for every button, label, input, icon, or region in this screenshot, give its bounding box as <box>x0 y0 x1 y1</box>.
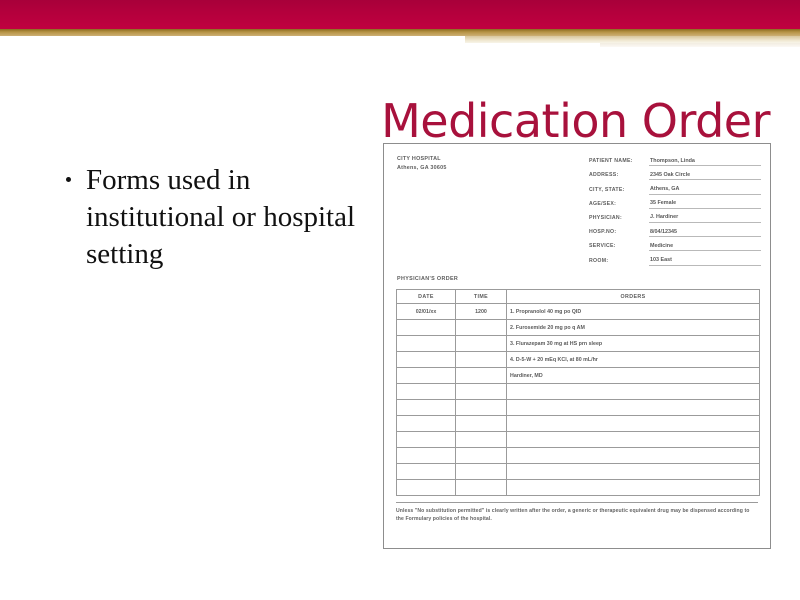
patient-field-row: ROOM: 103 East <box>589 251 761 265</box>
form-header: CITY HOSPITAL Athens, GA 30605 PATIENT N… <box>384 144 770 274</box>
cell-time[interactable] <box>456 352 507 368</box>
cell-time[interactable] <box>456 416 507 432</box>
cell-time[interactable] <box>456 320 507 336</box>
hospital-name: CITY HOSPITAL <box>397 155 447 164</box>
cell-order[interactable] <box>507 464 760 480</box>
orders-table: DATE TIME ORDERS 02/01/xx 1200 1. Propra… <box>396 289 760 496</box>
cell-order[interactable] <box>507 480 760 496</box>
cell-time[interactable]: 1200 <box>456 304 507 320</box>
patient-field-row: HOSP.NO: 8/04/12345 <box>589 223 761 237</box>
list-item-label: Forms used in institutional or hospital … <box>86 164 355 270</box>
top-crimson-band <box>0 0 800 29</box>
cell-time[interactable] <box>456 336 507 352</box>
table-row: 02/01/xx 1200 1. Propranolol 40 mg po QI… <box>397 304 760 320</box>
cell-order[interactable] <box>507 448 760 464</box>
physicians-order-label: PHYSICIAN'S ORDER <box>397 276 458 282</box>
patient-field-row: SERVICE: Medicine <box>589 237 761 251</box>
patient-field-value[interactable]: Thompson, Linda <box>649 158 761 167</box>
cell-time[interactable] <box>456 368 507 384</box>
cell-time[interactable] <box>456 464 507 480</box>
table-row <box>397 432 760 448</box>
patient-field-row: ADDRESS: 2345 Oak Circle <box>589 166 761 180</box>
table-header-row: DATE TIME ORDERS <box>397 290 760 304</box>
hospital-city-state-zip: Athens, GA 30605 <box>397 164 447 173</box>
patient-field-label: CITY, STATE: <box>589 187 649 195</box>
column-header-time: TIME <box>456 290 507 304</box>
top-gold-rule-tertiary <box>600 43 800 47</box>
cell-order[interactable]: 3. Flurazepam 30 mg at HS prn sleep <box>507 336 760 352</box>
patient-field-row: AGE/SEX: 35 Female <box>589 195 761 209</box>
cell-order[interactable]: 2. Furosemide 20 mg po q AM <box>507 320 760 336</box>
hospital-block: CITY HOSPITAL Athens, GA 30605 <box>397 155 447 174</box>
list-item: Forms used in institutional or hospital … <box>60 162 360 273</box>
patient-field-row: PATIENT NAME: Thompson, Linda <box>589 152 761 166</box>
patient-field-value[interactable]: 8/04/12345 <box>649 229 761 238</box>
patient-field-value[interactable]: 35 Female <box>649 200 761 209</box>
table-row: Hardiner, MD <box>397 368 760 384</box>
cell-date[interactable] <box>397 320 456 336</box>
patient-field-value[interactable]: J. Hardiner <box>649 214 761 223</box>
table-row: 4. D-5-W + 20 mEq KCl, at 80 mL/hr <box>397 352 760 368</box>
cell-order[interactable] <box>507 384 760 400</box>
cell-date[interactable] <box>397 352 456 368</box>
patient-field-value[interactable]: Athens, GA <box>649 186 761 195</box>
patient-field-label: SERVICE: <box>589 243 649 251</box>
table-row <box>397 448 760 464</box>
cell-time[interactable] <box>456 400 507 416</box>
patient-field-value[interactable]: Medicine <box>649 243 761 252</box>
slide-canvas: Medication Order Forms used in instituti… <box>0 0 800 600</box>
form-footnote: Unless "No substitution permitted" is cl… <box>396 502 758 524</box>
patient-field-label: HOSP.NO: <box>589 229 649 237</box>
patient-field-row: PHYSICIAN: J. Hardiner <box>589 209 761 223</box>
patient-field-label: PHYSICIAN: <box>589 215 649 223</box>
cell-order[interactable]: 4. D-5-W + 20 mEq KCl, at 80 mL/hr <box>507 352 760 368</box>
cell-time[interactable] <box>456 432 507 448</box>
cell-time[interactable] <box>456 448 507 464</box>
medication-order-form: CITY HOSPITAL Athens, GA 30605 PATIENT N… <box>383 143 771 549</box>
cell-time[interactable] <box>456 480 507 496</box>
cell-date[interactable] <box>397 432 456 448</box>
cell-date[interactable] <box>397 480 456 496</box>
table-row <box>397 400 760 416</box>
cell-date[interactable] <box>397 384 456 400</box>
column-header-date: DATE <box>397 290 456 304</box>
cell-date[interactable] <box>397 416 456 432</box>
cell-date[interactable] <box>397 464 456 480</box>
patient-info-block: PATIENT NAME: Thompson, Linda ADDRESS: 2… <box>589 152 761 266</box>
top-gold-rule-secondary <box>465 36 800 43</box>
cell-date[interactable] <box>397 400 456 416</box>
cell-time[interactable] <box>456 384 507 400</box>
patient-field-label: ROOM: <box>589 258 649 266</box>
bullet-list: Forms used in institutional or hospital … <box>60 162 360 273</box>
table-row: 3. Flurazepam 30 mg at HS prn sleep <box>397 336 760 352</box>
patient-field-value[interactable]: 2345 Oak Circle <box>649 172 761 181</box>
table-row <box>397 464 760 480</box>
column-header-orders: ORDERS <box>507 290 760 304</box>
cell-date[interactable] <box>397 368 456 384</box>
top-gold-rule <box>0 29 800 36</box>
cell-order[interactable] <box>507 400 760 416</box>
table-row: 2. Furosemide 20 mg po q AM <box>397 320 760 336</box>
patient-field-label: AGE/SEX: <box>589 201 649 209</box>
cell-order[interactable] <box>507 416 760 432</box>
page-title: Medication Order <box>330 97 770 145</box>
patient-field-value[interactable]: 103 East <box>649 257 761 266</box>
table-row <box>397 416 760 432</box>
cell-order-signature[interactable]: Hardiner, MD <box>507 368 760 384</box>
bullet-dot-icon <box>66 177 71 182</box>
cell-order[interactable]: 1. Propranolol 40 mg po QID <box>507 304 760 320</box>
cell-order[interactable] <box>507 432 760 448</box>
cell-date[interactable]: 02/01/xx <box>397 304 456 320</box>
table-row <box>397 384 760 400</box>
patient-field-row: CITY, STATE: Athens, GA <box>589 180 761 194</box>
patient-field-label: PATIENT NAME: <box>589 158 649 166</box>
patient-field-label: ADDRESS: <box>589 172 649 180</box>
cell-date[interactable] <box>397 448 456 464</box>
table-row <box>397 480 760 496</box>
cell-date[interactable] <box>397 336 456 352</box>
